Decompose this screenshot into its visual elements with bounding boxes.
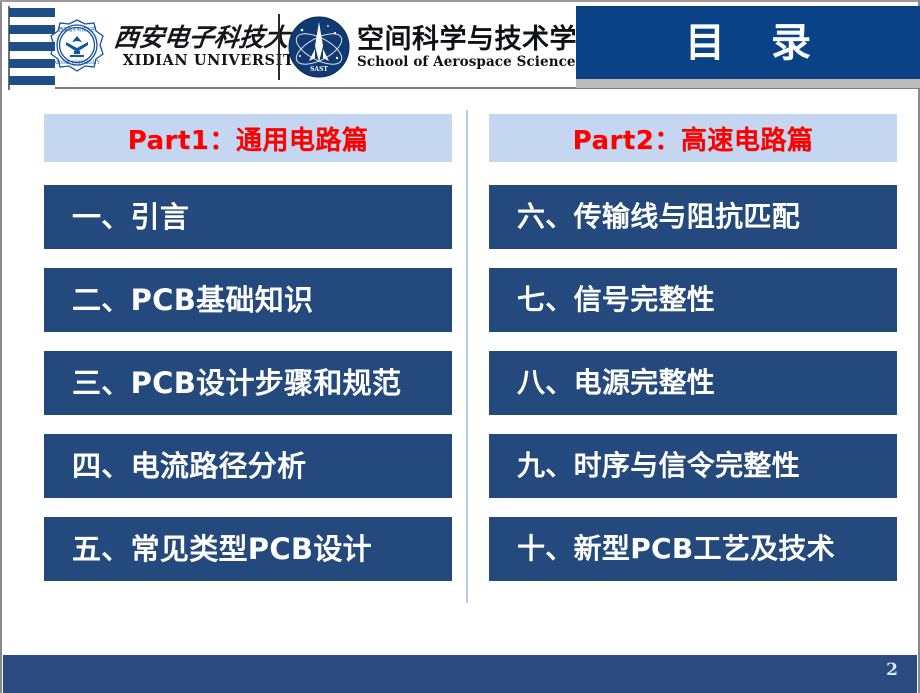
page-number: 2 [886,660,898,680]
toc-item-3-label: 三、PCB设计步骤和规范 [72,369,401,398]
toc-item-10[interactable]: 十、新型PCB工艺及技术 [489,517,897,581]
toc-column-part1: Part1：通用电路篇 一、引言 二、PCB基础知识 三、PCB设计步骤和规范 … [44,114,452,600]
logo-divider [278,14,280,80]
footer-bar [3,655,917,693]
toc-item-10-label: 十、新型PCB工艺及技术 [517,535,835,563]
part2-header: Part2：高速电路篇 [489,114,897,162]
sast-emblem-icon: SAST [288,16,350,78]
page-title: 目 录 [669,23,827,63]
part2-header-label: Part2：高速电路篇 [573,120,814,157]
toc-item-9-label: 九、时序与信令完整性 [517,452,800,480]
toc-item-9[interactable]: 九、时序与信令完整性 [489,434,897,498]
presentation-slide: 西安电子科技大学 XIDIAN UNIVERSITY 西安电子科技大学 XIDI… [0,0,920,693]
toc-item-1[interactable]: 一、引言 [44,185,452,249]
xidian-chinese-name: 西安电子科技大学 [113,25,316,51]
toc-column-part2: Part2：高速电路篇 六、传输线与阻抗匹配 七、信号完整性 八、电源完整性 九… [489,114,897,600]
slide-border-left [0,0,2,693]
toc-item-2-label: 二、PCB基础知识 [72,286,313,315]
toc-item-7-label: 七、信号完整性 [517,286,715,314]
toc-item-6[interactable]: 六、传输线与阻抗匹配 [489,185,897,249]
title-panel-shadow [576,79,920,88]
toc-item-5[interactable]: 五、常见类型PCB设计 [44,517,452,581]
toc-item-3[interactable]: 三、PCB设计步骤和规范 [44,351,452,415]
toc-item-8-label: 八、电源完整性 [517,369,715,397]
toc-item-6-label: 六、传输线与阻抗匹配 [517,203,800,231]
part1-header-label: Part1：通用电路篇 [128,120,369,157]
toc-item-8[interactable]: 八、电源完整性 [489,351,897,415]
toc-item-7[interactable]: 七、信号完整性 [489,268,897,332]
toc-item-2[interactable]: 二、PCB基础知识 [44,268,452,332]
toc-item-5-label: 五、常见类型PCB设计 [72,535,372,564]
toc-item-1-label: 一、引言 [72,203,189,232]
svg-text:SAST: SAST [310,66,328,73]
column-divider [466,110,468,603]
xidian-university-logo: 西安电子科技大学 XIDIAN UNIVERSITY 西安电子科技大学 XIDI… [48,12,314,82]
part1-header: Part1：通用电路篇 [44,114,452,162]
xidian-emblem-icon: 西安电子科技大学 XIDIAN UNIVERSITY [48,17,106,77]
toc-item-4[interactable]: 四、电流路径分析 [44,434,452,498]
xidian-wordmark: 西安电子科技大学 XIDIAN UNIVERSITY [114,25,314,68]
svg-text:XIDIAN UNIVERSITY: XIDIAN UNIVERSITY [54,60,100,65]
slide-title-panel: 目 录 [576,6,920,79]
slide-header: 西安电子科技大学 XIDIAN UNIVERSITY 西安电子科技大学 XIDI… [0,0,920,92]
svg-text:西安电子科技大学: 西安电子科技大学 [59,26,96,33]
toc-item-4-label: 四、电流路径分析 [72,452,306,481]
